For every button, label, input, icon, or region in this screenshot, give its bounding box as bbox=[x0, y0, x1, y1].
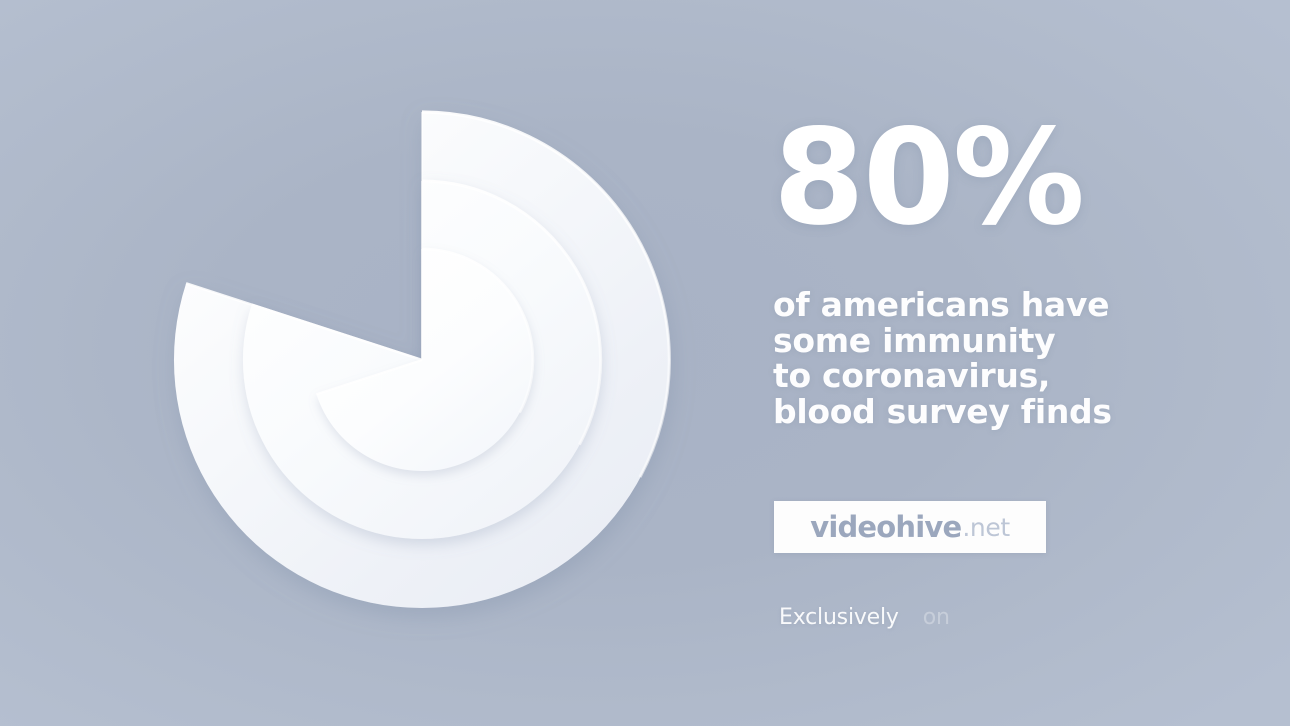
exclusively-label: Exclusively bbox=[779, 605, 899, 630]
exclusively-on-line: Exclusively on bbox=[779, 605, 950, 630]
brand-tld: .net bbox=[962, 513, 1009, 542]
headline-line-1: of americans have bbox=[773, 287, 1243, 323]
text-column: 80% of americans have some immunity to c… bbox=[773, 112, 1243, 429]
infographic-slide: 80% of americans have some immunity to c… bbox=[0, 0, 1290, 726]
brand-name: videohive bbox=[810, 510, 961, 544]
on-label: on bbox=[923, 605, 950, 630]
headline-line-2: some immunity bbox=[773, 323, 1243, 359]
headline-line-4: blood survey finds bbox=[773, 394, 1243, 430]
videohive-badge[interactable]: videohive .net bbox=[774, 501, 1046, 553]
pie-chart-graphic bbox=[0, 0, 760, 726]
headline-line-3: to coronavirus, bbox=[773, 358, 1243, 394]
headline: of americans have some immunity to coron… bbox=[773, 287, 1243, 429]
stat-value: 80% bbox=[773, 112, 1243, 244]
